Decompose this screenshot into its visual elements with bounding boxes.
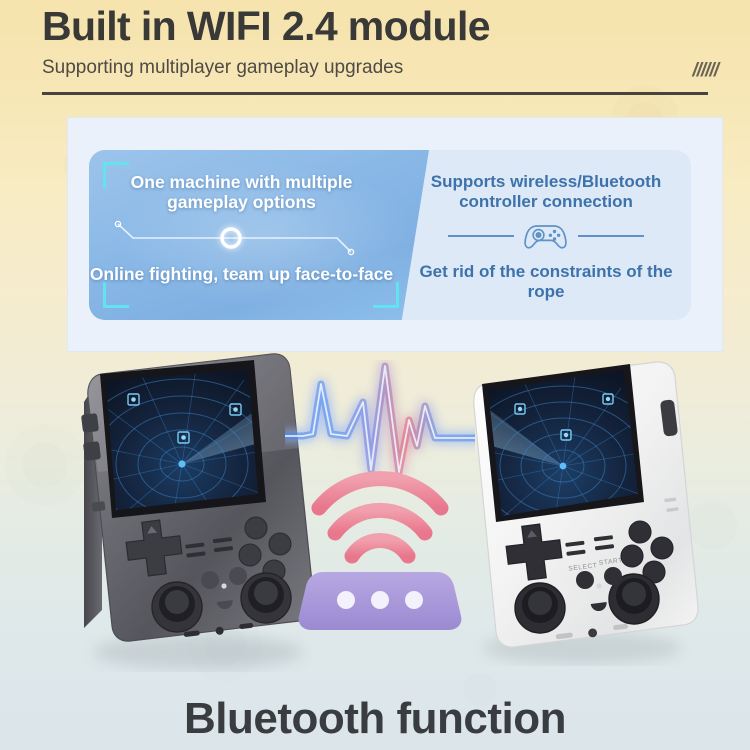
right-device-handheld-console: SELECT START bbox=[462, 356, 712, 666]
wifi-signal-icon bbox=[319, 479, 441, 556]
header-divider bbox=[42, 92, 708, 95]
gamepad-divider-row bbox=[401, 216, 691, 256]
hatch-marks-decoration: ////// bbox=[692, 60, 718, 82]
page-subtitle: Supporting multiplayer gameplay upgrades bbox=[42, 57, 403, 79]
divider-line-left bbox=[448, 235, 514, 237]
feature-left-subheading: Online fighting, team up face-to-face bbox=[89, 264, 394, 284]
feature-card: One machine with multiple gameplay optio… bbox=[89, 150, 691, 320]
gamepad-icon bbox=[523, 219, 569, 253]
header: Built in WIFI 2.4 module Supporting mult… bbox=[0, 0, 750, 104]
wireless-signal-graphic bbox=[285, 360, 475, 650]
feature-right-half: Supports wireless/Bluetooth controller c… bbox=[429, 150, 691, 320]
feature-left-heading: One machine with multiple gameplay optio… bbox=[89, 172, 394, 213]
feature-panel: One machine with multiple gameplay optio… bbox=[67, 117, 723, 352]
feature-left-wedge: One machine with multiple gameplay optio… bbox=[89, 150, 429, 320]
router-icon bbox=[299, 572, 462, 630]
promo-page: Built in WIFI 2.4 module Supporting mult… bbox=[0, 0, 750, 750]
page-title: Built in WIFI 2.4 module bbox=[42, 3, 490, 50]
feature-right-heading: Supports wireless/Bluetooth controller c… bbox=[401, 172, 691, 211]
feature-right-subheading: Get rid of the constraints of the rope bbox=[401, 262, 691, 301]
signal-waveform-icon bbox=[285, 366, 475, 472]
footer-title: Bluetooth function bbox=[0, 694, 750, 744]
product-stage: SELECT START bbox=[0, 352, 750, 692]
divider-line-right bbox=[578, 235, 644, 237]
